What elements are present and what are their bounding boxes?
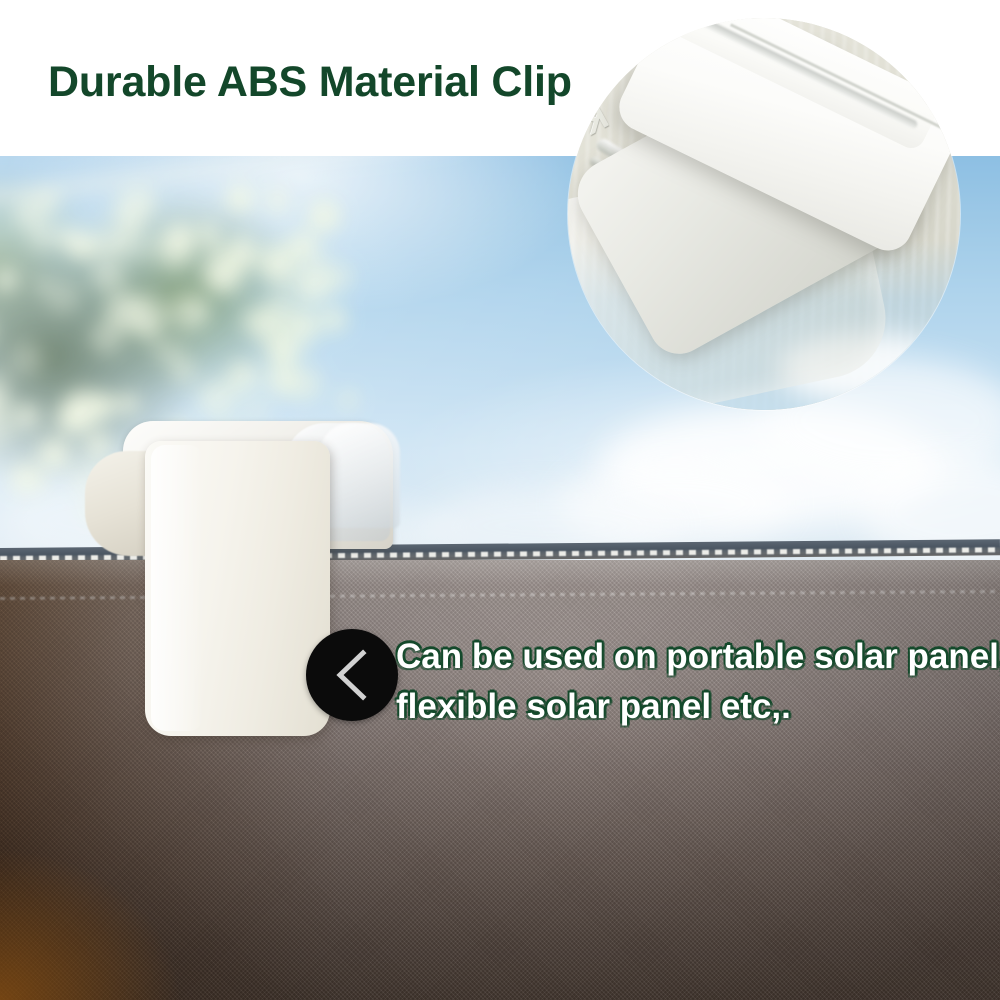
caption-line-1: Can be used on portable solar panel, <box>396 632 1000 682</box>
caption-line-2: flexible solar panel etc,. <box>396 682 1000 732</box>
clip-front-highlight <box>151 445 203 731</box>
clip-closeup-inset: Keapnels <box>568 18 960 410</box>
product-feature-image: Durable ABS Material Clip Keapnels Can b… <box>0 0 1000 1000</box>
chevron-left-icon <box>331 648 373 702</box>
chevron-left-badge <box>306 629 398 721</box>
page-title: Durable ABS Material Clip <box>48 58 572 107</box>
feature-caption: Can be used on portable solar panel, fle… <box>396 632 1000 732</box>
clip-clear-rim <box>320 423 400 528</box>
